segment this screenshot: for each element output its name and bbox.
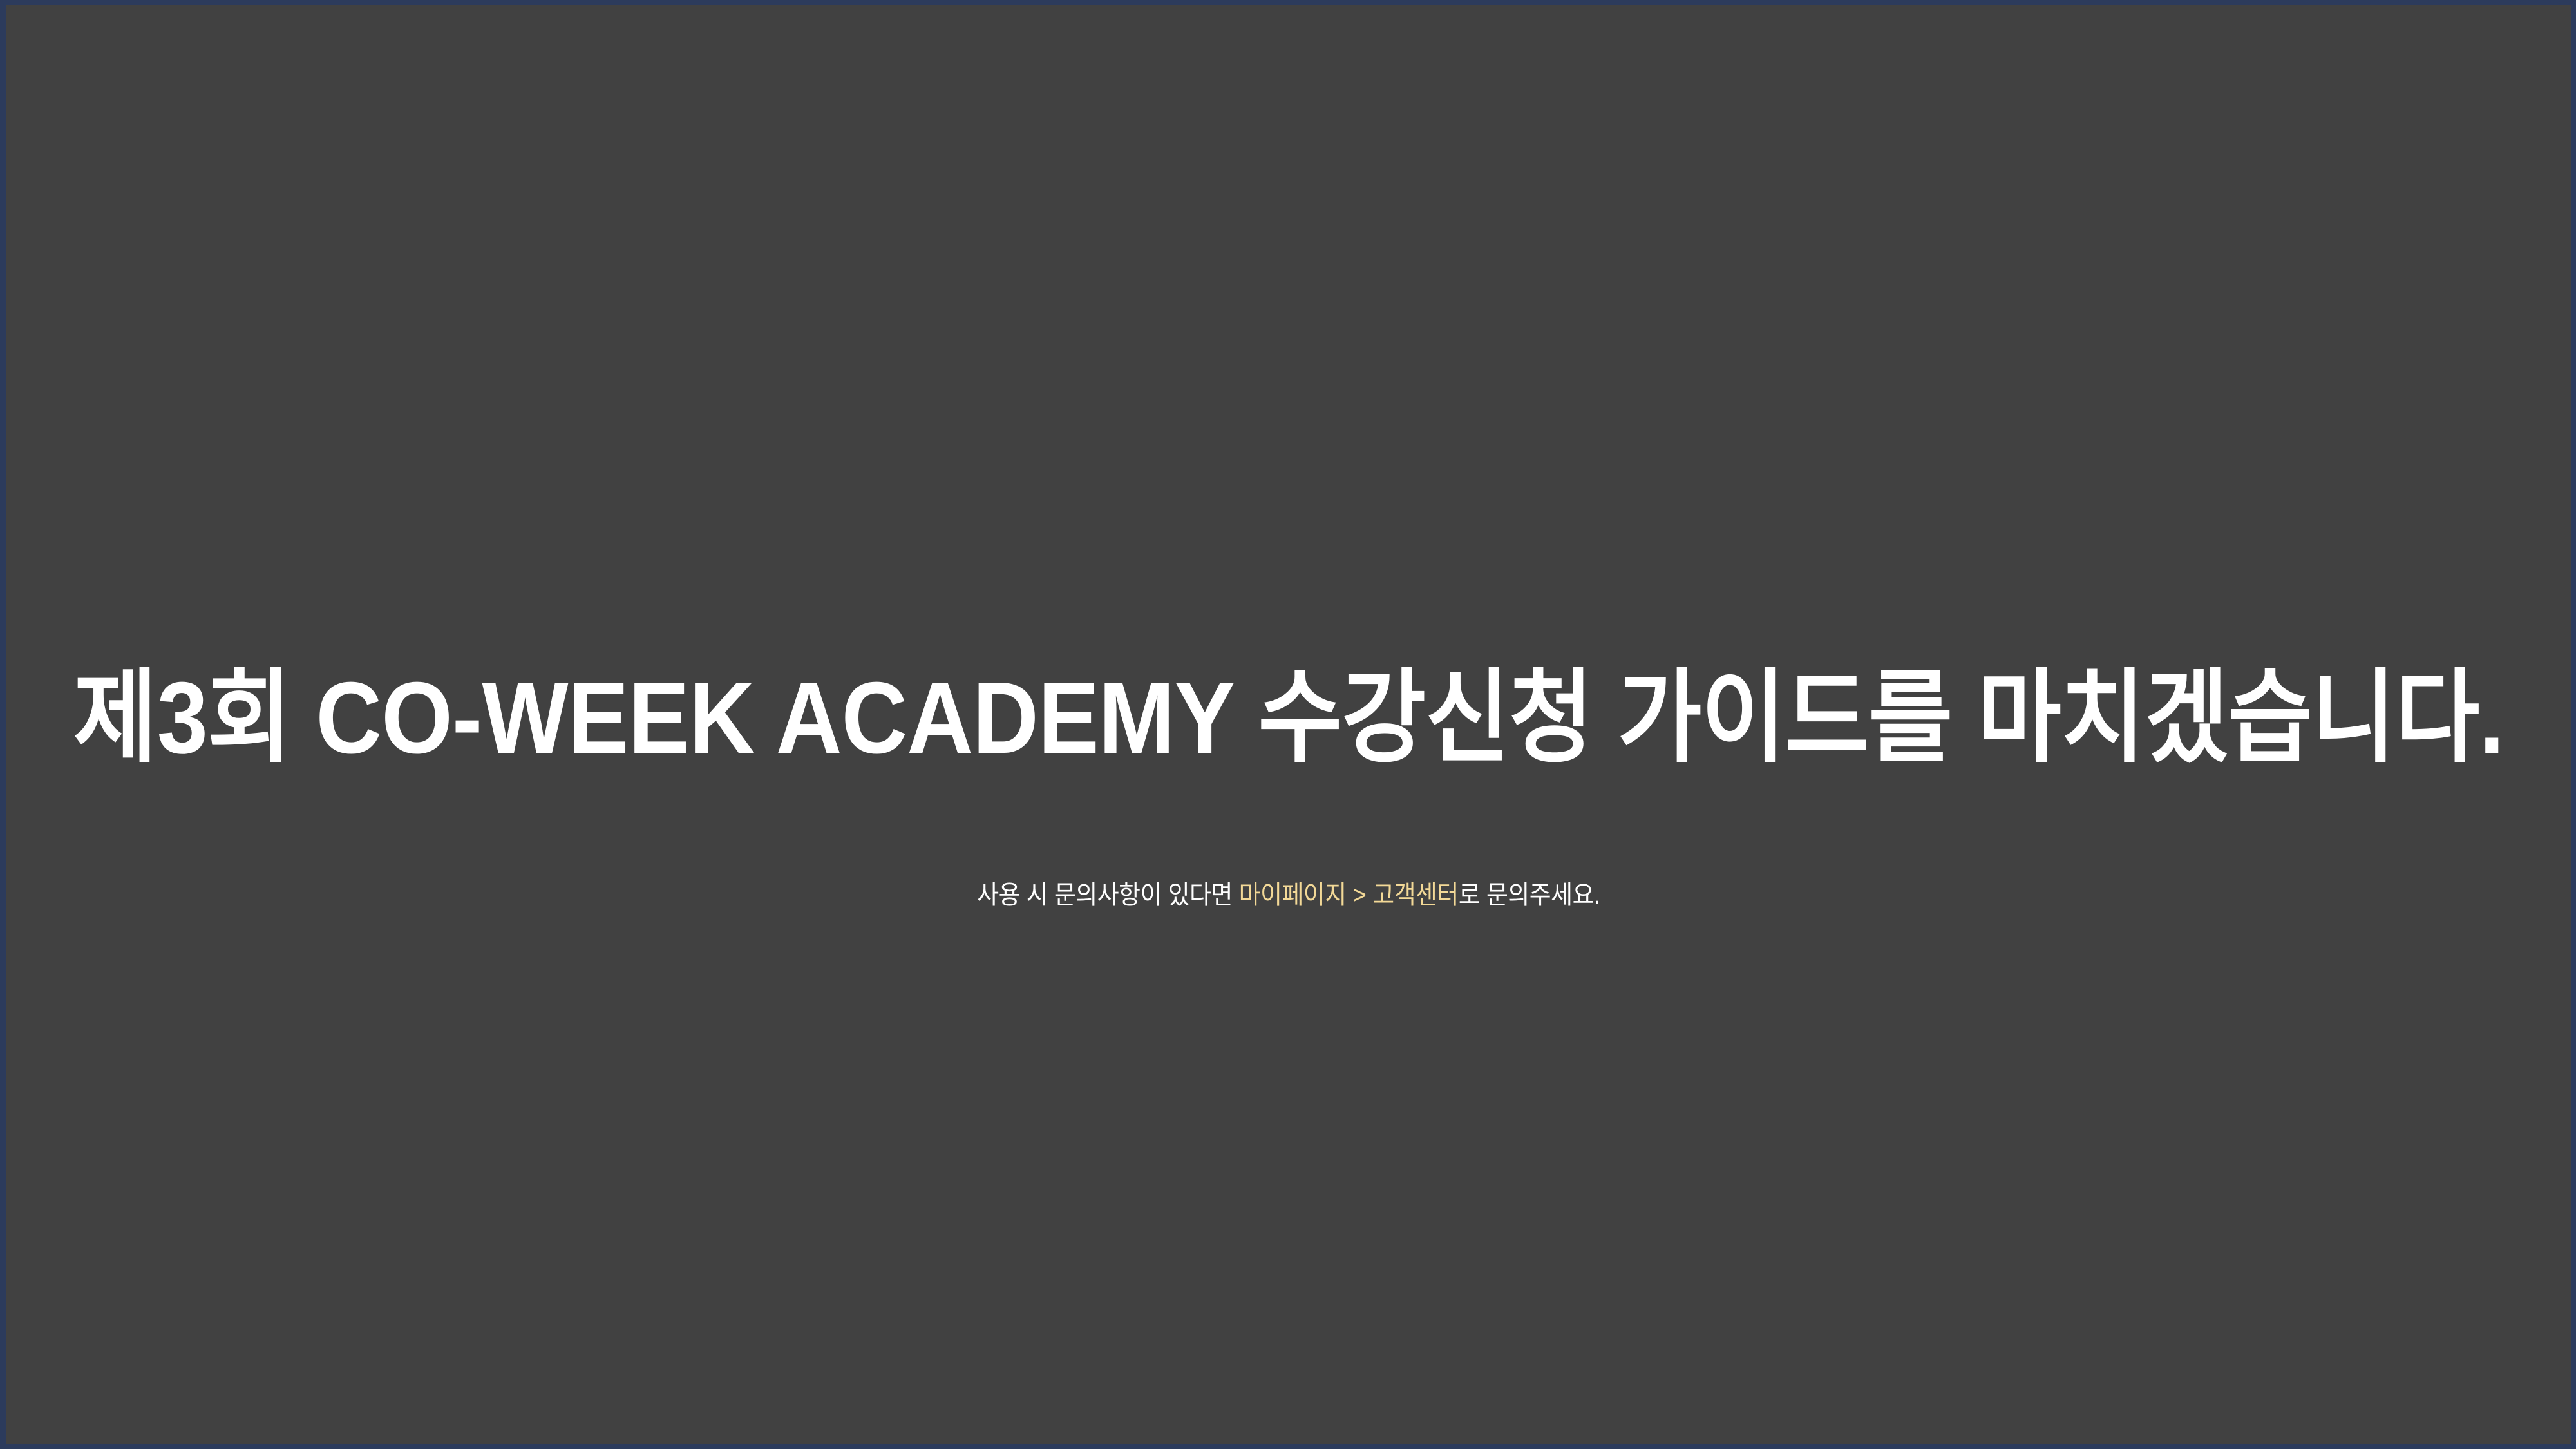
slide-outer-frame: 제3회 CO-WEEK ACADEMY 수강신청 가이드를 마치겠습니다. 사용… — [0, 0, 2576, 1449]
support-note-path-link[interactable]: 마이페이지 > 고객센터 — [1238, 881, 1458, 909]
slide-content-stack: 제3회 CO-WEEK ACADEMY 수강신청 가이드를 마치겠습니다. 사용… — [6, 5, 2571, 1444]
closing-headline: 제3회 CO-WEEK ACADEMY 수강신청 가이드를 마치겠습니다. — [73, 667, 2503, 769]
support-note-trail: 로 문의주세요. — [1458, 881, 1600, 909]
support-note-lead: 사용 시 문의사항이 있다면 — [977, 881, 1238, 909]
slide-canvas: 제3회 CO-WEEK ACADEMY 수강신청 가이드를 마치겠습니다. 사용… — [6, 5, 2571, 1444]
support-note: 사용 시 문의사항이 있다면 마이페이지 > 고객센터로 문의주세요. — [977, 882, 1600, 908]
